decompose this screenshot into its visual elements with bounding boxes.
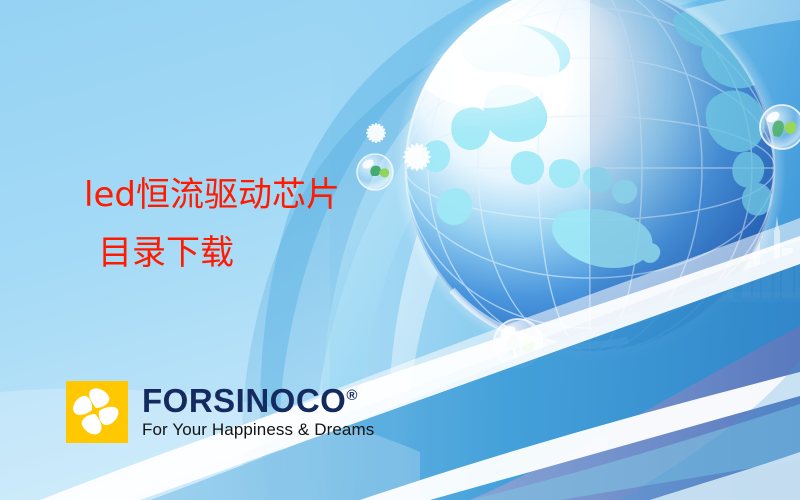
slide-canvas: led恒流驱动芯片 目录下载 FORSINOCO® For Your Happi… xyxy=(0,0,800,500)
slide-title-line-1: led恒流驱动芯片 xyxy=(84,166,340,224)
bubble-right-edge xyxy=(760,105,800,149)
registered-trademark-icon: ® xyxy=(346,387,357,404)
slide-title: led恒流驱动芯片 目录下载 xyxy=(84,166,340,282)
bubble-left xyxy=(357,154,393,190)
logo-wordmark: FORSINOCO® xyxy=(142,384,374,417)
logo-tagline: For Your Happiness & Dreams xyxy=(142,420,374,440)
logo-wordmark-text: FORSINOCO xyxy=(142,382,346,419)
company-logo: FORSINOCO® For Your Happiness & Dreams xyxy=(66,381,374,443)
logo-text-block: FORSINOCO® For Your Happiness & Dreams xyxy=(142,381,374,440)
forsinoco-pinwheel-mark xyxy=(66,381,128,443)
slide-title-line-2: 目录下载 xyxy=(84,224,340,282)
